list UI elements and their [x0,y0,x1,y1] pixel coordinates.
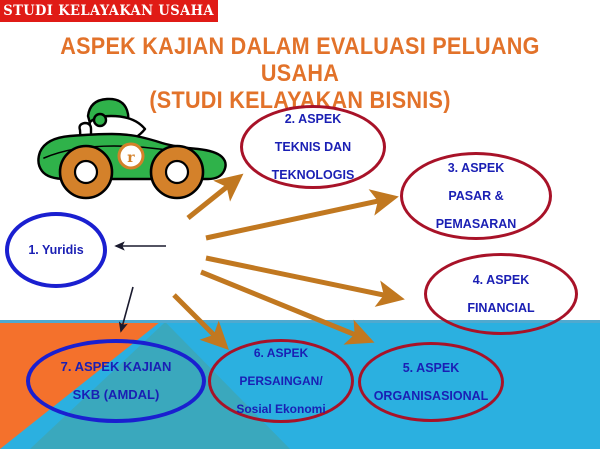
arrow-to-node-2 [188,178,238,218]
node-2-aspek-teknis-dan-teknologis[interactable]: 2. ASPEK TEKNIS DAN TEKNOLOGIS [240,105,386,189]
node-6-aspek-persaingan-sosial-ekonomi[interactable]: 6. ASPEK PERSAINGAN/ Sosial Ekonomi [208,339,354,423]
node-2-label: 2. ASPEK TEKNIS DAN TEKNOLOGIS [243,112,383,182]
arrow-to-node-6 [174,295,224,345]
arrow-to-node-3 [206,198,392,238]
arrow-to-node-7 [121,287,133,331]
node-6-label: 6. ASPEK PERSAINGAN/ Sosial Ekonomi [211,346,351,416]
node-4-aspek-financial[interactable]: 4. ASPEK FINANCIAL [424,253,578,335]
node-7-aspek-kajian-skb-amdal[interactable]: 7. ASPEK KAJIAN SKB (AMDAL) [26,339,206,423]
node-5-label: 5. ASPEK ORGANISASIONAL [361,361,501,403]
node-1-yuridis[interactable]: 1. Yuridis [5,212,107,288]
node-1-label: 1. Yuridis [9,243,103,257]
node-5-aspek-organisasional[interactable]: 5. ASPEK ORGANISASIONAL [358,342,504,422]
node-3-label: 3. ASPEK PASAR & PEMASARAN [403,161,549,231]
node-7-label: 7. ASPEK KAJIAN SKB (AMDAL) [30,360,202,402]
node-4-label: 4. ASPEK FINANCIAL [427,273,575,315]
slide-canvas: STUDI KELAYAKAN USAHA ASPEK KAJIAN DALAM… [0,0,600,449]
node-3-aspek-pasar-pemasaran[interactable]: 3. ASPEK PASAR & PEMASARAN [400,152,552,240]
arrow-to-node-4 [206,258,398,298]
arrow-to-node-5 [201,272,368,340]
